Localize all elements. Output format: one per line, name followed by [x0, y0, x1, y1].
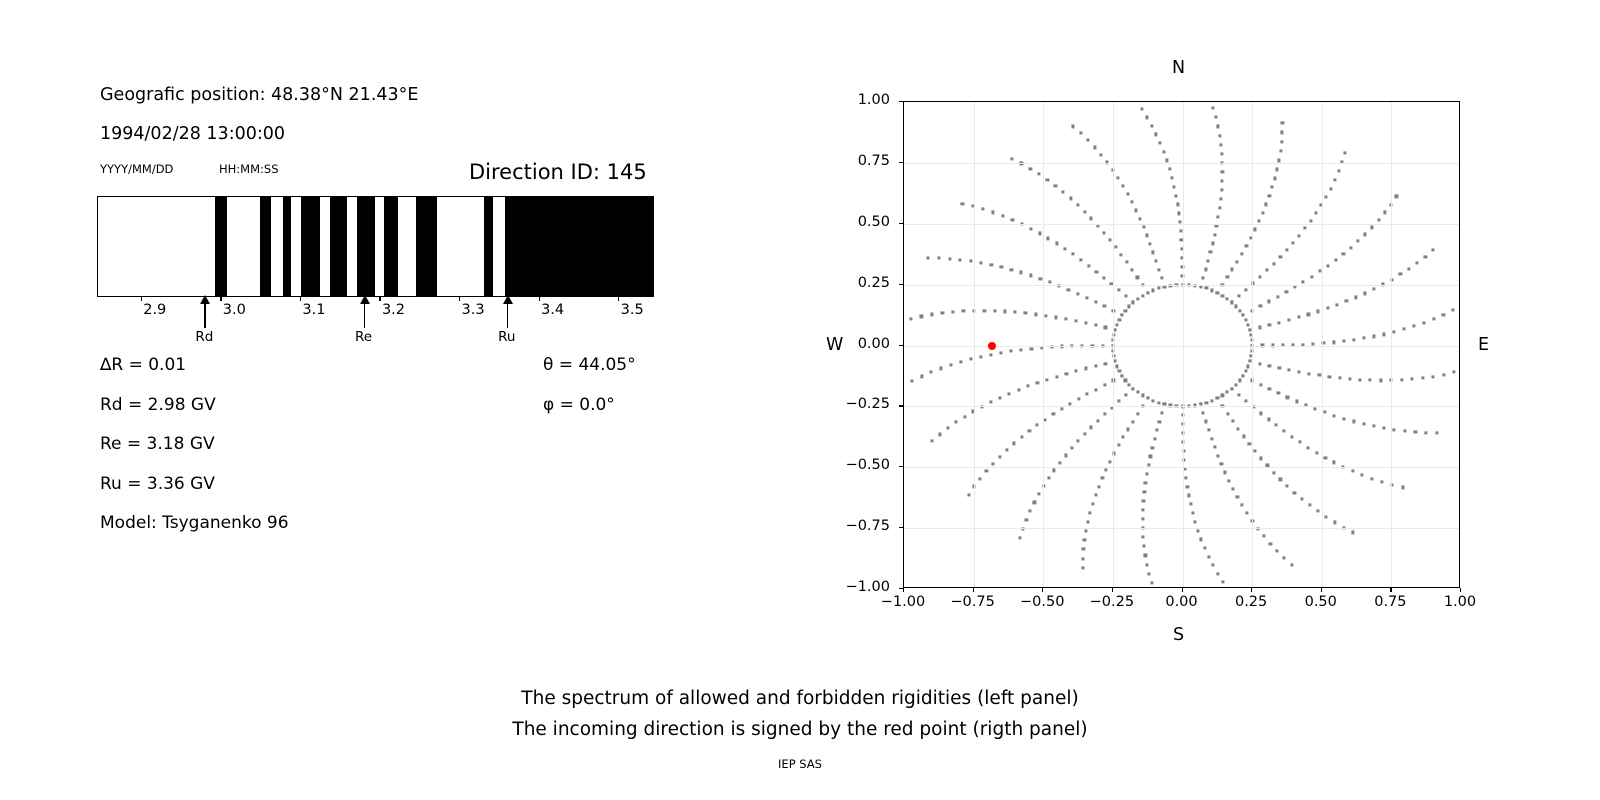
- direction-point: [1025, 518, 1028, 521]
- axis-tick: [141, 297, 142, 301]
- direction-point: [1083, 538, 1086, 541]
- direction-point: [1307, 313, 1310, 316]
- direction-point: [1308, 372, 1311, 375]
- direction-point: [1115, 365, 1118, 368]
- direction-point: [1245, 244, 1248, 247]
- direction-point: [1047, 477, 1050, 480]
- direction-point: [1220, 189, 1223, 192]
- direction-point: [1121, 184, 1124, 187]
- direction-point: [1421, 376, 1424, 379]
- direction-point: [1237, 295, 1240, 298]
- direction-point: [1160, 411, 1163, 414]
- direction-point: [1117, 400, 1120, 403]
- direction-point: [1349, 246, 1352, 249]
- direction-point: [1174, 194, 1177, 197]
- direction-point: [948, 257, 951, 260]
- direction-point: [1316, 310, 1319, 313]
- direction-point: [1268, 387, 1271, 390]
- direction-point: [1083, 210, 1086, 213]
- direction-point: [1297, 316, 1300, 319]
- direction-point: [1241, 374, 1244, 377]
- direction-point: [1442, 313, 1445, 316]
- direction-point: [990, 263, 993, 266]
- direction-point: [989, 353, 992, 356]
- direction-point: [1086, 520, 1089, 523]
- direction-point: [1216, 454, 1219, 457]
- y-axis-tick: [899, 223, 903, 224]
- direction-point: [1315, 451, 1318, 454]
- forbidden-band: [330, 197, 348, 296]
- direction-point: [1236, 260, 1239, 263]
- direction-point: [1145, 116, 1148, 119]
- direction-point: [1234, 305, 1237, 308]
- direction-point: [1373, 335, 1376, 338]
- compass-label-south: S: [1173, 625, 1184, 645]
- direction-point: [1244, 288, 1247, 291]
- direction-point: [1071, 253, 1074, 256]
- axis-tick-label: 3.2: [382, 302, 405, 318]
- datetime-label: 1994/02/28 13:00:00: [100, 124, 285, 144]
- direction-point: [1097, 485, 1100, 488]
- direction-point: [1220, 152, 1223, 155]
- direction-point: [962, 310, 965, 313]
- direction-point: [1114, 360, 1117, 363]
- direction-point: [1070, 447, 1073, 450]
- direction-point: [1328, 375, 1331, 378]
- direction-point: [926, 257, 929, 260]
- direction-point: [1144, 481, 1147, 484]
- direction-point: [1104, 326, 1107, 329]
- y-axis-tick-label: −0.25: [830, 396, 890, 412]
- marker-label: Rd: [195, 329, 213, 345]
- direction-point: [1046, 178, 1049, 181]
- direction-point: [1207, 428, 1210, 431]
- direction-point: [1338, 376, 1341, 379]
- direction-point: [1316, 510, 1319, 513]
- direction-point: [1432, 248, 1435, 251]
- direction-point: [1209, 251, 1212, 254]
- direction-point: [980, 261, 983, 264]
- date-format-hint: YYYY/MM/DD: [100, 162, 173, 176]
- direction-point: [1087, 264, 1090, 267]
- direction-point: [1271, 186, 1274, 189]
- direction-point: [920, 315, 923, 318]
- direction-point: [1034, 313, 1037, 316]
- direction-point: [1293, 491, 1296, 494]
- gridline-horizontal: [904, 406, 1459, 407]
- direction-point: [1072, 125, 1075, 128]
- direction-point: [1171, 176, 1174, 179]
- direction-point: [1267, 418, 1270, 421]
- direction-point: [1260, 457, 1263, 460]
- direction-point: [1132, 387, 1135, 390]
- direction-point: [1194, 520, 1197, 523]
- direction-point: [1136, 412, 1139, 415]
- direction-point: [1185, 476, 1188, 479]
- direction-point: [1218, 207, 1221, 210]
- direction-point: [1030, 347, 1033, 350]
- param-model: Model: Tsyganenko 96: [100, 513, 289, 533]
- y-axis-tick: [899, 284, 903, 285]
- direction-point: [1236, 495, 1239, 498]
- direction-point: [1108, 238, 1111, 241]
- direction-point: [1126, 192, 1129, 195]
- direction-point: [1176, 203, 1179, 206]
- direction-point: [1141, 394, 1144, 397]
- direction-point: [1278, 366, 1281, 369]
- direction-point: [1151, 446, 1154, 449]
- direction-point: [1352, 338, 1355, 341]
- direction-point: [1074, 369, 1077, 372]
- footer-label: IEP SAS: [0, 757, 1600, 771]
- direction-point: [1287, 318, 1290, 321]
- caption-line-2: The incoming direction is signed by the …: [0, 719, 1600, 740]
- direction-point: [1240, 252, 1243, 255]
- direction-point: [1210, 289, 1213, 292]
- direction-point: [1416, 261, 1419, 264]
- incoming-direction-point: [988, 342, 996, 350]
- direction-point: [1282, 429, 1285, 432]
- direction-point: [1293, 285, 1296, 288]
- axis-tick: [300, 297, 301, 301]
- direction-point: [1094, 388, 1097, 391]
- time-format-hint: HH:MM:SS: [219, 162, 279, 176]
- direction-point: [1254, 450, 1257, 453]
- direction-point: [1326, 264, 1329, 267]
- direction-point: [1383, 333, 1386, 336]
- direction-point: [1410, 378, 1413, 381]
- direction-point: [938, 433, 941, 436]
- direction-point: [1177, 212, 1180, 215]
- direction-point: [1279, 478, 1282, 481]
- direction-point: [1395, 195, 1398, 198]
- direction-point: [1238, 309, 1241, 312]
- direction-point: [1280, 140, 1283, 143]
- direction-point: [1219, 143, 1222, 146]
- direction-point: [1084, 367, 1087, 370]
- direction-point: [1276, 295, 1279, 298]
- direction-point: [1380, 480, 1383, 483]
- forbidden-band: [484, 197, 494, 296]
- direction-point: [1244, 370, 1247, 373]
- direction-point: [1268, 194, 1271, 197]
- gridline-horizontal: [904, 224, 1459, 225]
- y-axis-tick: [899, 162, 903, 163]
- direction-point: [1451, 308, 1454, 311]
- direction-point: [1081, 566, 1084, 569]
- forbidden-band: [357, 197, 375, 296]
- direction-point: [1086, 393, 1089, 396]
- direction-point: [1079, 132, 1082, 135]
- direction-point: [1152, 251, 1155, 254]
- direction-point: [1067, 288, 1070, 291]
- compass-label-north: N: [1172, 58, 1185, 78]
- direction-point: [1244, 318, 1247, 321]
- direction-point: [1337, 170, 1340, 173]
- direction-point: [1165, 159, 1168, 162]
- direction-point: [1017, 388, 1020, 391]
- direction-point: [1302, 280, 1305, 283]
- direction-point: [1145, 472, 1148, 475]
- direction-point: [1377, 218, 1380, 221]
- direction-point: [1262, 535, 1265, 538]
- direction-point: [930, 313, 933, 316]
- direction-point: [1084, 529, 1087, 532]
- direction-point: [1142, 535, 1145, 538]
- direction-point: [1403, 430, 1406, 433]
- direction-point: [1155, 133, 1158, 136]
- direction-point: [1094, 324, 1097, 327]
- direction-point: [1093, 146, 1096, 149]
- direction-point: [1074, 319, 1077, 322]
- direction-point: [1354, 296, 1357, 299]
- direction-point: [1077, 397, 1080, 400]
- direction-point: [1369, 379, 1372, 382]
- direction-point: [1273, 177, 1276, 180]
- direction-point: [1303, 227, 1306, 230]
- direction-point: [1240, 503, 1243, 506]
- direction-point: [1143, 490, 1146, 493]
- direction-point: [1281, 121, 1284, 124]
- direction-point: [1259, 383, 1262, 386]
- direction-point: [1268, 323, 1271, 326]
- direction-point: [1145, 234, 1148, 237]
- direction-point: [1307, 446, 1310, 449]
- direction-point: [1101, 477, 1104, 480]
- direction-point: [1140, 107, 1143, 110]
- direction-point: [1047, 237, 1050, 240]
- direction-point: [1131, 420, 1134, 423]
- direction-point: [1326, 307, 1329, 310]
- direction-point: [1291, 241, 1294, 244]
- direction-point: [1103, 413, 1106, 416]
- direction-point: [1200, 538, 1203, 541]
- direction-point: [1403, 328, 1406, 331]
- direction-point: [1037, 173, 1040, 176]
- direction-point: [1108, 460, 1111, 463]
- direction-point: [1151, 289, 1154, 292]
- gridline-vertical: [974, 102, 975, 587]
- direction-point: [1298, 234, 1301, 237]
- direction-point: [1055, 242, 1058, 245]
- x-axis-tick-label: 1.00: [1444, 594, 1476, 610]
- axis-tick: [618, 297, 619, 301]
- direction-point: [969, 358, 972, 361]
- direction-point: [1453, 371, 1456, 374]
- direction-point: [1120, 253, 1123, 256]
- direction-point: [1279, 255, 1282, 258]
- direction-point: [1147, 464, 1150, 467]
- direction-point: [1329, 187, 1332, 190]
- direction-id-label: Direction ID: 145: [469, 160, 647, 184]
- direction-point: [1151, 399, 1154, 402]
- direction-point: [1159, 141, 1162, 144]
- direction-point: [1221, 171, 1224, 174]
- direction-point: [1231, 268, 1234, 271]
- direction-point: [1011, 218, 1014, 221]
- direction-point: [1213, 445, 1216, 448]
- direction-point: [1029, 227, 1032, 230]
- direction-point: [1219, 198, 1222, 201]
- direction-point: [1205, 287, 1208, 290]
- gridline-vertical: [1252, 102, 1253, 587]
- direction-point: [1136, 276, 1139, 279]
- x-axis-tick: [1182, 588, 1183, 592]
- direction-point: [982, 207, 985, 210]
- direction-point: [909, 317, 912, 320]
- direction-point: [1091, 502, 1094, 505]
- direction-point: [1060, 407, 1063, 410]
- param-theta: θ = 44.05°: [543, 355, 636, 375]
- direction-point: [1231, 487, 1234, 490]
- forbidden-band: [416, 197, 437, 296]
- direction-point: [1014, 311, 1017, 314]
- x-axis-tick-label: −0.75: [950, 594, 994, 610]
- direction-point: [1276, 168, 1279, 171]
- y-axis-tick-label: −1.00: [830, 579, 890, 595]
- direction-point: [1216, 125, 1219, 128]
- axis-tick-label: 3.5: [621, 302, 644, 318]
- forbidden-band: [260, 197, 272, 296]
- geographic-position-label: Geografic position: 48.38°N 21.43°E: [100, 85, 418, 105]
- direction-point: [1003, 310, 1006, 313]
- direction-point: [1212, 564, 1215, 567]
- direction-point: [1117, 444, 1120, 447]
- direction-point: [1010, 268, 1013, 271]
- x-axis-tick: [1251, 588, 1252, 592]
- direction-point: [1096, 419, 1099, 422]
- direction-point: [993, 309, 996, 312]
- direction-point: [1333, 414, 1336, 417]
- direction-point: [954, 421, 957, 424]
- direction-point: [1216, 397, 1219, 400]
- x-axis-tick: [903, 588, 904, 592]
- direction-point: [1102, 276, 1105, 279]
- direction-point: [1144, 554, 1147, 557]
- direction-point: [1351, 469, 1354, 472]
- direction-point: [1076, 203, 1079, 206]
- direction-point: [1290, 435, 1293, 438]
- direction-point: [1086, 139, 1089, 142]
- up-arrow-icon: [503, 295, 513, 304]
- axis-tick: [539, 297, 540, 301]
- direction-point: [1248, 442, 1251, 445]
- direction-point: [1230, 301, 1233, 304]
- direction-point: [1173, 185, 1176, 188]
- direction-point: [1029, 509, 1032, 512]
- marker-label: Ru: [498, 329, 515, 345]
- direction-point: [1090, 426, 1093, 429]
- gridline-vertical: [1043, 102, 1044, 587]
- direction-point: [1335, 303, 1338, 306]
- direction-point: [1258, 362, 1261, 365]
- direction-point: [1286, 485, 1289, 488]
- direction-point: [1379, 379, 1382, 382]
- direction-point: [1246, 323, 1249, 326]
- direction-point: [1024, 312, 1027, 315]
- direction-point: [1399, 273, 1402, 276]
- direction-point: [1045, 378, 1048, 381]
- direction-point: [1053, 469, 1056, 472]
- direction-point: [1148, 572, 1151, 575]
- direction-point: [1000, 265, 1003, 268]
- direction-point: [1124, 309, 1127, 312]
- direction-point: [1212, 106, 1215, 109]
- direction-point: [1138, 217, 1141, 220]
- direction-point: [1141, 508, 1144, 511]
- direction-point: [1063, 247, 1066, 250]
- direction-point: [1168, 168, 1171, 171]
- y-axis-tick: [899, 527, 903, 528]
- direction-point: [920, 375, 923, 378]
- direction-point: [1103, 305, 1106, 308]
- up-arrow-icon: [360, 295, 370, 304]
- up-arrow-icon: [200, 295, 210, 304]
- axis-tick-label: 3.1: [302, 302, 325, 318]
- forbidden-band: [505, 197, 654, 296]
- direction-point: [992, 211, 995, 214]
- y-axis-tick-label: 0.25: [830, 275, 890, 291]
- direction-point: [1370, 226, 1373, 229]
- param-delta-r: ∆R = 0.01: [100, 355, 186, 375]
- direction-point: [1432, 375, 1435, 378]
- direction-point: [1290, 563, 1293, 566]
- direction-point: [1055, 375, 1058, 378]
- direction-point: [1324, 515, 1327, 518]
- direction-point: [1054, 316, 1057, 319]
- direction-point: [1248, 328, 1251, 331]
- direction-point: [1058, 461, 1061, 464]
- forbidden-band: [283, 197, 291, 296]
- direction-point: [1259, 304, 1262, 307]
- direction-point: [1149, 455, 1152, 458]
- axis-tick-label: 3.4: [541, 302, 564, 318]
- direction-point: [1026, 385, 1029, 388]
- gridline-horizontal: [904, 528, 1459, 529]
- direction-point: [1259, 275, 1262, 278]
- direction-point: [930, 371, 933, 374]
- direction-point: [1268, 364, 1271, 367]
- direction-point: [985, 469, 988, 472]
- direction-point: [1269, 542, 1272, 545]
- y-axis-tick-label: 0.50: [830, 214, 890, 230]
- direction-point: [1064, 454, 1067, 457]
- direction-point: [1207, 555, 1210, 558]
- direction-point: [959, 258, 962, 261]
- direction-point: [1142, 499, 1145, 502]
- x-axis-tick: [1042, 588, 1043, 592]
- direction-point: [1211, 242, 1214, 245]
- direction-point: [1414, 431, 1417, 434]
- direction-point: [959, 360, 962, 363]
- direction-point: [1037, 493, 1040, 496]
- direction-point: [1130, 201, 1133, 204]
- direction-point: [1283, 556, 1286, 559]
- direction-point: [1277, 159, 1280, 162]
- axis-tick-label: 3.0: [223, 302, 246, 318]
- direction-point: [1422, 321, 1425, 324]
- direction-point: [1157, 287, 1160, 290]
- direction-point: [1029, 167, 1032, 170]
- direction-point: [1407, 267, 1410, 270]
- direction-point: [1214, 116, 1217, 119]
- y-axis-tick: [899, 405, 903, 406]
- y-axis-tick: [899, 101, 903, 102]
- x-axis-tick: [1112, 588, 1113, 592]
- x-axis-tick-label: −0.25: [1090, 594, 1134, 610]
- direction-point: [1358, 378, 1361, 381]
- direction-point: [1054, 184, 1057, 187]
